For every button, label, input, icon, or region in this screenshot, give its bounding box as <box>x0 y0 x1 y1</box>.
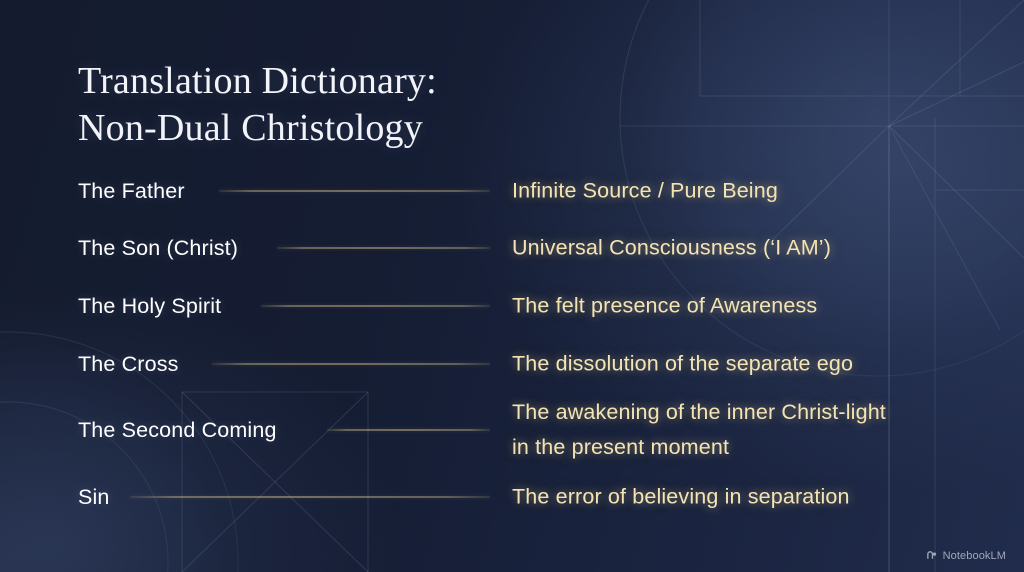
meaning-label: The dissolution of the separate ego <box>512 347 853 382</box>
translation-rows: The Father Infinite Source / Pure Being … <box>0 0 1024 572</box>
term-label: The Holy Spirit <box>78 293 221 319</box>
term-label: The Cross <box>78 351 179 377</box>
connector-line <box>327 430 490 431</box>
connector-line <box>130 497 490 498</box>
term-label: The Son (Christ) <box>78 235 238 261</box>
connector-line <box>219 191 490 192</box>
meaning-label: Universal Consciousness (‘I AM’) <box>512 231 831 266</box>
term-label: Sin <box>78 484 110 510</box>
meaning-label: The error of believing in separation <box>512 480 850 515</box>
slide-canvas: Translation Dictionary: Non-Dual Christo… <box>0 0 1024 572</box>
notebooklm-label: NotebookLM <box>943 550 1006 562</box>
notebooklm-logo-icon <box>925 549 938 562</box>
term-label: The Second Coming <box>78 417 277 443</box>
connector-line <box>212 364 490 365</box>
meaning-label: The felt presence of Awareness <box>512 289 817 324</box>
meaning-label: Infinite Source / Pure Being <box>512 174 778 209</box>
notebooklm-watermark: NotebookLM <box>925 549 1006 562</box>
connector-line <box>261 306 490 307</box>
term-label: The Father <box>78 178 185 204</box>
meaning-label: The awakening of the inner Christ-light … <box>512 395 886 465</box>
connector-line <box>277 248 490 249</box>
